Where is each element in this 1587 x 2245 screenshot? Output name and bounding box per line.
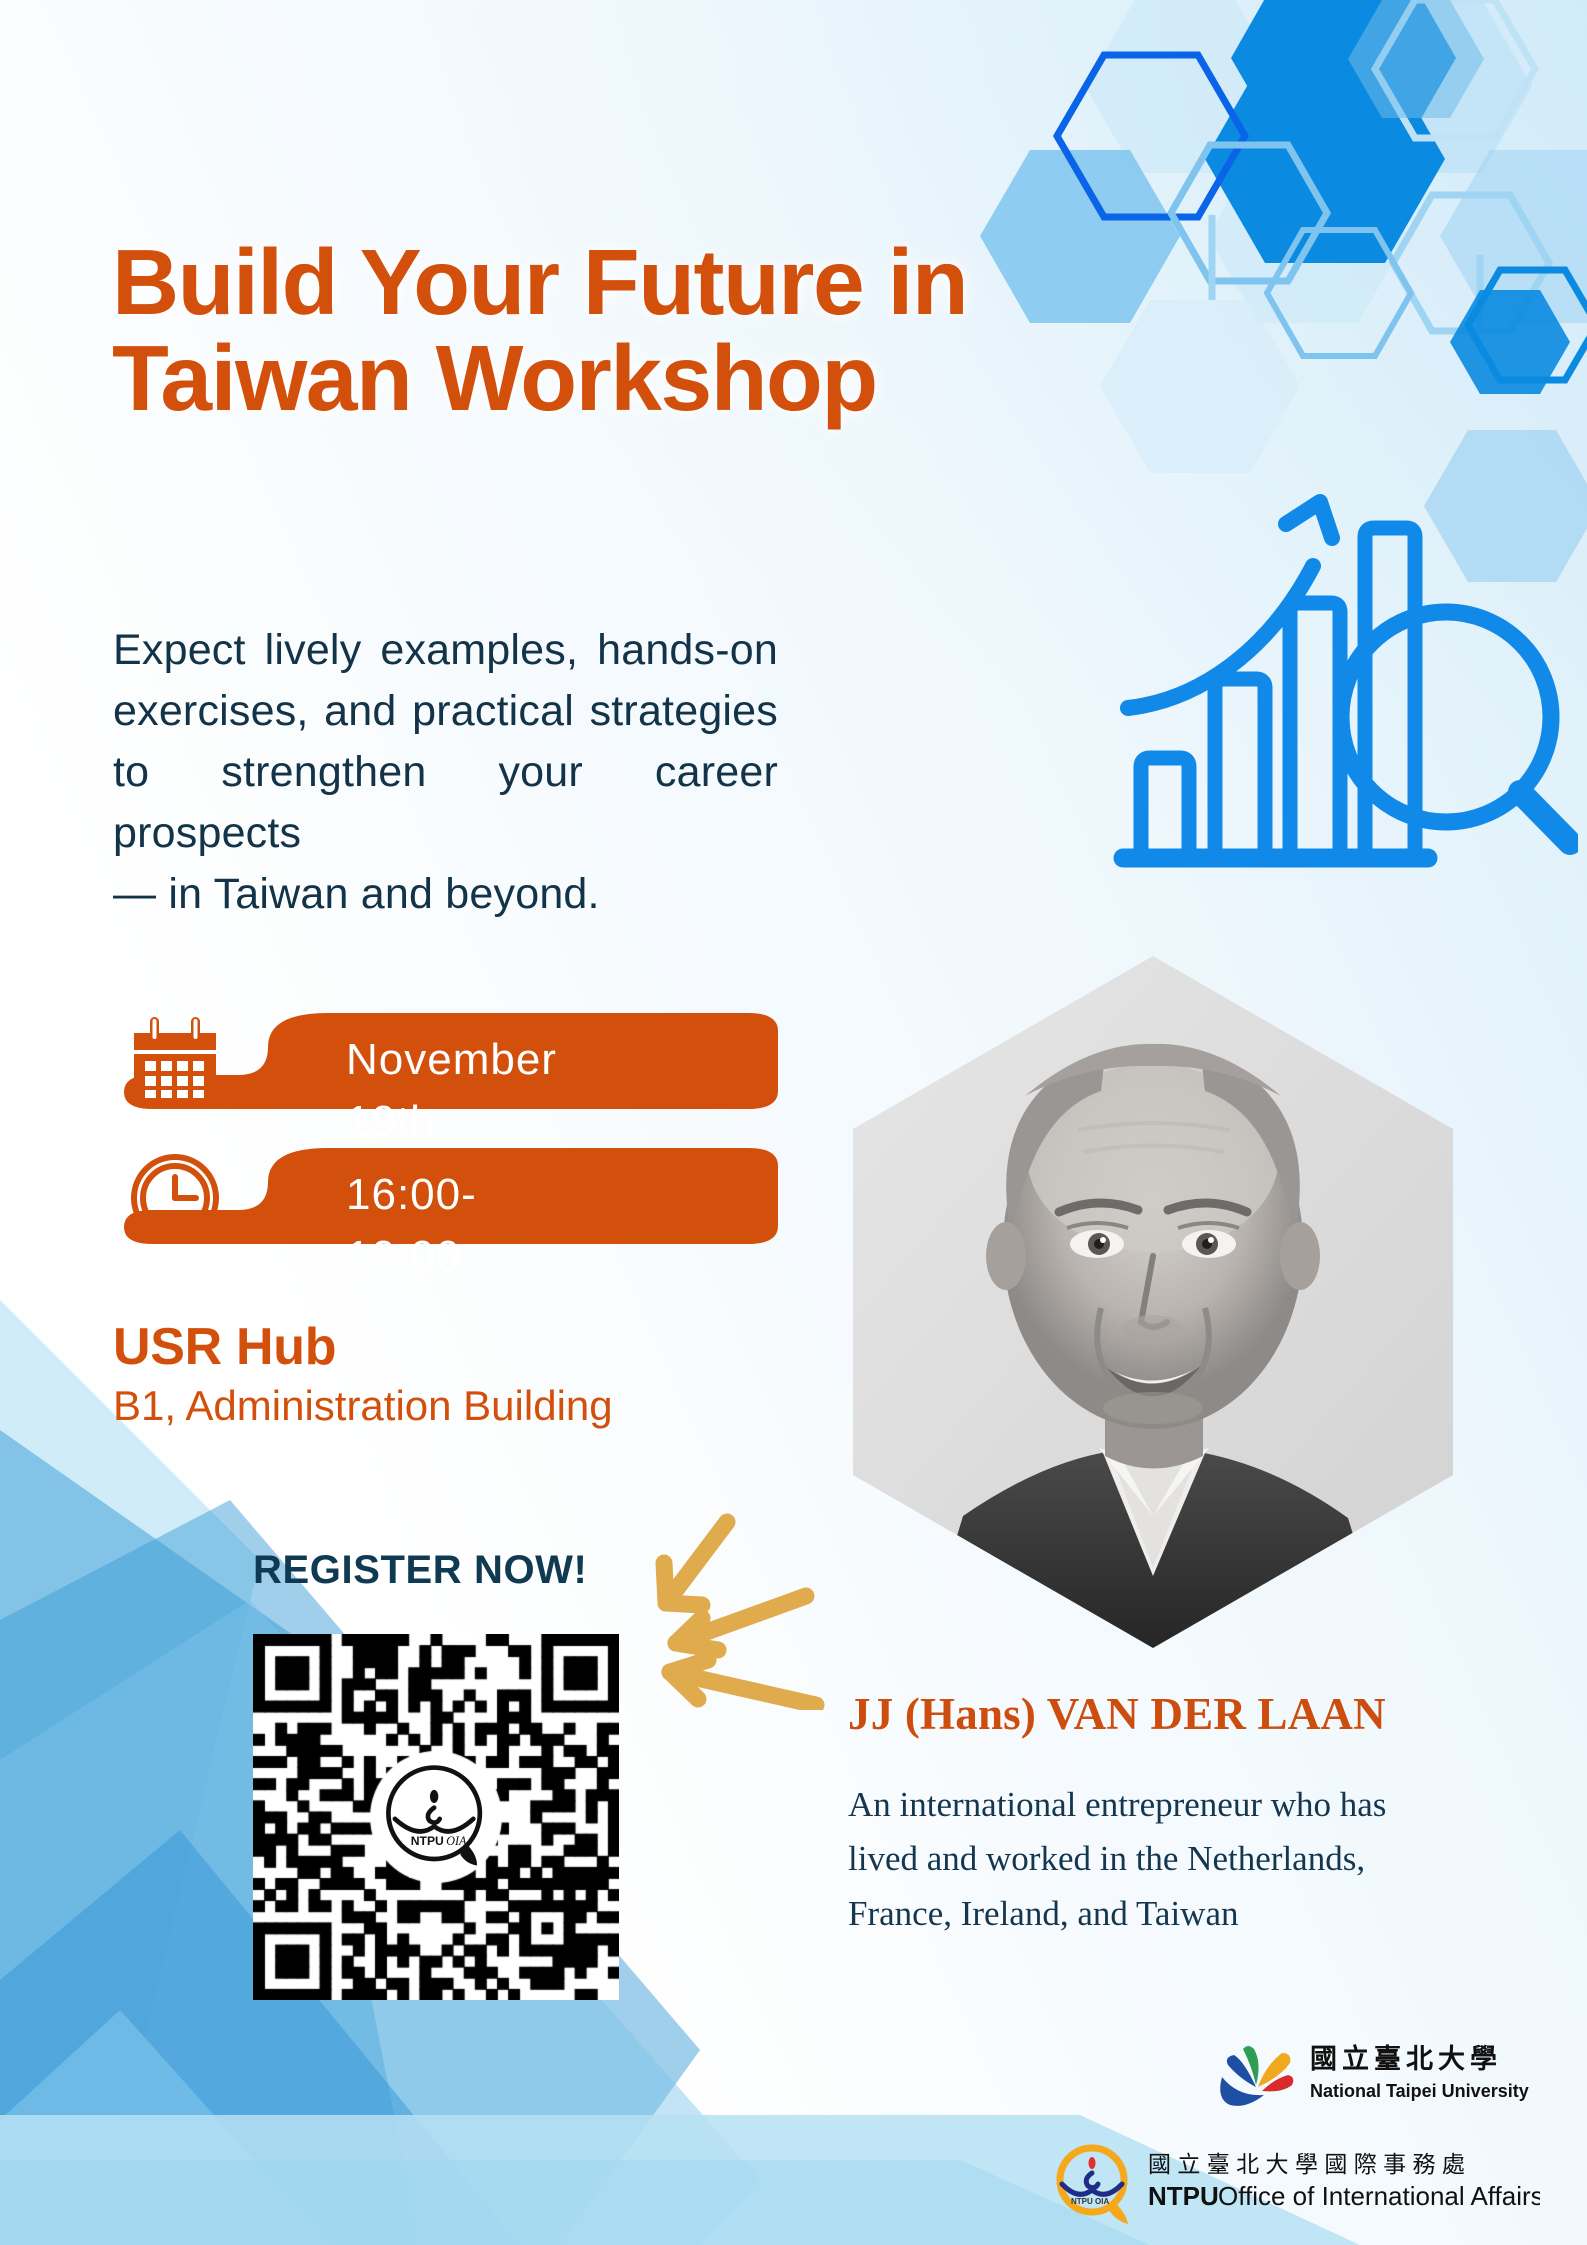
time-value: 16:00-19:00 bbox=[346, 1164, 477, 1288]
speaker-photo bbox=[853, 956, 1453, 1648]
date-value: November 19th bbox=[346, 1029, 557, 1153]
speaker-bio: An international entrepreneur who has li… bbox=[848, 1778, 1508, 1941]
description-line-1: Expect lively examples, hands-on exercis… bbox=[113, 620, 778, 864]
calendar-icon bbox=[128, 1017, 222, 1105]
speaker-bio-line-3: France, Ireland, and Taiwan bbox=[848, 1887, 1508, 1941]
oia-logo: NTPU OIA 國 立 臺 北 大 學 國 際 事 務 處 NTPU Offi… bbox=[1050, 2138, 1540, 2226]
oia-mark-text: NTPU OIA bbox=[1071, 2197, 1109, 2206]
clock-icon bbox=[128, 1152, 222, 1240]
title-line-1: Build Your Future in bbox=[112, 235, 972, 331]
speaker-name: JJ (Hans) VAN DER LAAN bbox=[848, 1688, 1548, 1740]
ntpu-swoosh-icon bbox=[1220, 2046, 1293, 2106]
description-line-2: — in Taiwan and beyond. bbox=[113, 864, 778, 925]
ntpu-oia-mark-icon: NTPU OIA bbox=[380, 1761, 492, 1873]
title-line-2: Taiwan Workshop bbox=[112, 331, 972, 427]
ntpu-logo-english: National Taipei University bbox=[1310, 2081, 1529, 2101]
speaker-bio-line-1: An international entrepreneur who has bbox=[848, 1778, 1508, 1832]
qr-mark-text-light: OIA bbox=[446, 1834, 467, 1848]
arrow-pointer-icon bbox=[640, 1500, 840, 1710]
oia-mark-icon: NTPU OIA bbox=[1060, 2148, 1128, 2224]
venue-name: USR Hub bbox=[113, 1318, 613, 1376]
register-now-label: REGISTER NOW! bbox=[253, 1548, 587, 1593]
poster-canvas: Build Your Future in Taiwan Workshop Exp… bbox=[0, 0, 1587, 2245]
venue-detail: B1, Administration Building bbox=[113, 1380, 613, 1433]
oia-logo-chinese: 國 立 臺 北 大 學 國 際 事 務 處 bbox=[1148, 2151, 1465, 2177]
qr-mark-text-bold: NTPU bbox=[411, 1834, 444, 1848]
ntpu-logo-chinese: 國立臺北大學 bbox=[1310, 2043, 1502, 2074]
venue-block: USR Hub B1, Administration Building bbox=[113, 1318, 613, 1433]
oia-logo-english: Office of International Affairs bbox=[1218, 2181, 1540, 2211]
poster-description: Expect lively examples, hands-on exercis… bbox=[113, 620, 778, 925]
oia-logo-english-bold: NTPU bbox=[1148, 2181, 1219, 2211]
growth-chart-magnifier-icon bbox=[1108, 480, 1578, 880]
registration-qr-code[interactable]: NTPU OIA bbox=[253, 1634, 619, 2000]
poster-title: Build Your Future in Taiwan Workshop bbox=[112, 235, 972, 427]
speaker-bio-line-2: lived and worked in the Netherlands, bbox=[848, 1832, 1508, 1886]
ntpu-university-logo: 國立臺北大學 National Taipei University bbox=[1210, 2035, 1540, 2113]
